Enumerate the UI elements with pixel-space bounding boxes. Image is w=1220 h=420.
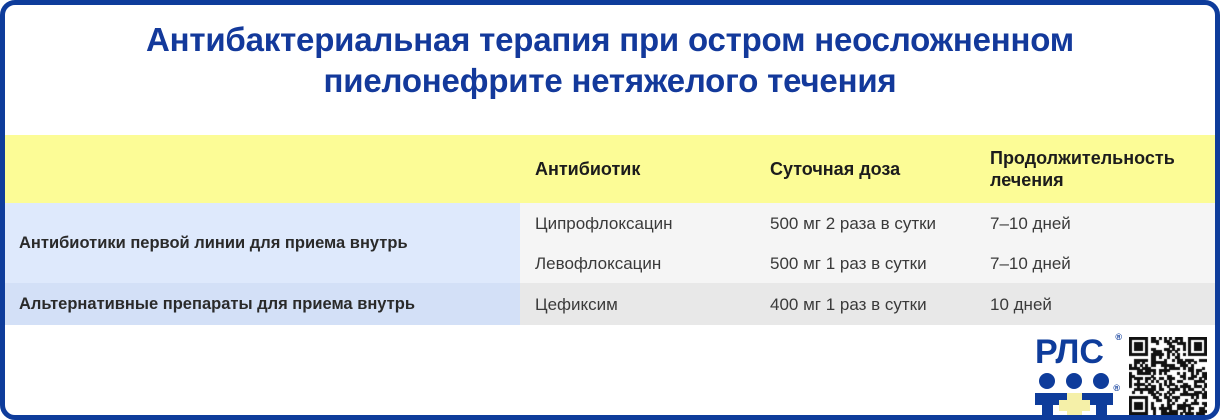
row-group-label: Антибиотики первой линии для приема внут… — [5, 203, 520, 283]
row-group-entries: Ципрофлоксацин 500 мг 2 раза в сутки 7–1… — [520, 203, 1215, 283]
person-body-shape — [1096, 405, 1107, 417]
drug-entry: Левофлоксацин 500 мг 1 раз в сутки 7–10 … — [520, 243, 1215, 283]
page-title-line-2: пиелонефрите нетяжелого течения — [5, 60, 1215, 101]
branding-area: РЛС ® ® — [1012, 327, 1207, 415]
person-head-icon — [1093, 373, 1109, 389]
drug-duration: 7–10 дней — [975, 213, 1215, 234]
table-row: Антибиотики первой линии для приема внут… — [5, 203, 1215, 283]
rls-logo: РЛС ® ® — [1035, 335, 1121, 415]
page-title: Антибактериальная терапия при остром нео… — [5, 19, 1215, 101]
page-title-line-1: Антибактериальная терапия при остром нео… — [5, 19, 1215, 60]
drug-duration: 7–10 дней — [975, 253, 1215, 274]
drug-name: Левофлоксацин — [520, 253, 755, 274]
drug-duration: 10 дней — [975, 294, 1215, 315]
rls-wordmark-text: РЛС — [1035, 333, 1104, 371]
column-header-duration-line-1: Продолжительность — [990, 148, 1175, 168]
drug-entry: Ципрофлоксацин 500 мг 2 раза в сутки 7–1… — [520, 203, 1215, 243]
table-row: Альтернативные препараты для приема внут… — [5, 283, 1215, 325]
person-body-shape — [1042, 405, 1053, 417]
column-header-dose: Суточная доза — [755, 135, 975, 203]
rls-wordmark: РЛС ® — [1035, 335, 1121, 369]
drug-entry: Цефиксим 400 мг 1 раз в сутки 10 дней — [520, 283, 1215, 325]
table-header-row: Антибиотик Суточная доза Продолжительнос… — [5, 135, 1215, 203]
medical-cross-icon — [1059, 400, 1090, 411]
drug-dose: 500 мг 2 раза в сутки — [755, 213, 975, 234]
column-header-drug: Антибиотик — [520, 135, 755, 203]
drug-dose: 400 мг 1 раз в сутки — [755, 294, 975, 315]
column-header-duration: Продолжительность лечения — [975, 135, 1215, 203]
row-group-entries: Цефиксим 400 мг 1 раз в сутки 10 дней — [520, 283, 1215, 325]
drug-name: Ципрофлоксацин — [520, 213, 755, 234]
rls-people-cross-icon: ® — [1035, 373, 1117, 415]
registered-trademark-icon: ® — [1113, 384, 1120, 393]
infographic-card: Антибактериальная терапия при остром нео… — [0, 0, 1220, 420]
therapy-table: Антибиотик Суточная доза Продолжительнос… — [5, 135, 1215, 325]
registered-trademark-icon: ® — [1115, 333, 1122, 342]
drug-name: Цефиксим — [520, 294, 755, 315]
person-head-icon — [1039, 373, 1055, 389]
row-group-label: Альтернативные препараты для приема внут… — [5, 283, 520, 325]
qr-code[interactable] — [1129, 337, 1207, 415]
column-header-group — [5, 135, 520, 203]
person-head-icon — [1066, 373, 1082, 389]
drug-dose: 500 мг 1 раз в сутки — [755, 253, 975, 274]
column-header-duration-line-2: лечения — [990, 170, 1064, 190]
